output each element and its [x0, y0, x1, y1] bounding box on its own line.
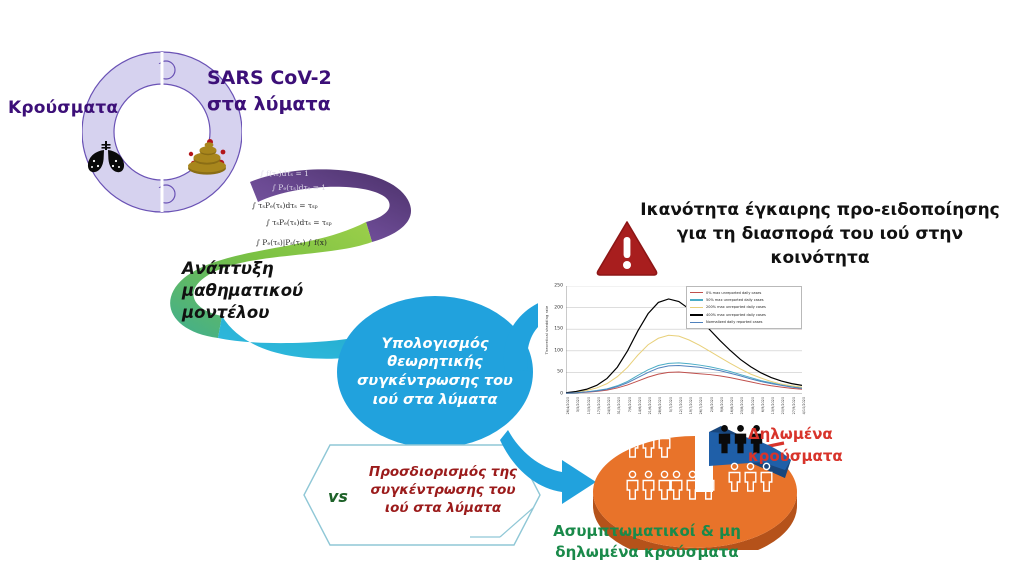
- legend-swatch: [690, 322, 703, 323]
- chart-x-tick: 2/8/2020: [710, 397, 714, 412]
- chart-line: [566, 365, 802, 393]
- legend-swatch: [690, 307, 703, 308]
- chart-x-tick: 28/6/2020: [658, 397, 662, 414]
- legend-item: 200% max unreported daily cases: [690, 304, 798, 311]
- label-model-development: Ανάπτυξη μαθηματικού μοντέλου: [182, 258, 332, 323]
- legend-label: 0% max unreported daily cases: [706, 291, 761, 295]
- chart-x-tick: 17/5/2020: [597, 397, 601, 414]
- label-cases: Κρούσματα: [8, 98, 158, 118]
- label-reported-cases-line1: Δηλωμένα: [748, 424, 878, 446]
- label-unreported-cases-line2: δηλωμένα κρούσματα: [527, 542, 767, 563]
- node-theoretical-concentration-label: Υπολογισμός θεωρητικής συγκέντρωσης του …: [337, 335, 533, 409]
- label-reported-cases: Δηλωμένα κρούσματα: [748, 424, 878, 468]
- chart-x-tick: 14/6/2020: [638, 397, 642, 414]
- chart-x-tick: 26/7/2020: [699, 397, 703, 414]
- label-sars-line2: στα λύματα: [207, 92, 367, 118]
- chart-line: [566, 363, 802, 393]
- chart-y-tick: 200: [554, 305, 563, 310]
- node-measured-concentration: vs Προσδιορισμός της συγκέντρωσης του ιο…: [302, 443, 542, 547]
- legend-item: Normalized daily reported cases: [690, 319, 798, 326]
- legend-item: 50% max unreported daily cases: [690, 296, 798, 303]
- legend-item: 400% max unreported daily cases: [690, 311, 798, 318]
- chart-x-tick: 21/6/2020: [648, 397, 652, 414]
- chart-x-tick: 10/5/2020: [587, 397, 591, 414]
- label-model-development-line1: Ανάπτυξη: [182, 258, 332, 280]
- chart-x-tick: 24/5/2020: [607, 397, 611, 414]
- chart-y-tick: 250: [554, 284, 563, 289]
- people-group-unreported: [669, 470, 716, 500]
- legend-swatch: [690, 314, 703, 315]
- chart-x-tick: 7/6/2020: [628, 397, 632, 412]
- label-sars-wastewater: SARS CoV-2 στα λύματα: [207, 66, 367, 117]
- legend-label: Normalized daily reported cases: [706, 320, 763, 324]
- chart-x-tick: 23/8/2020: [740, 397, 744, 414]
- chart-x-tick: 26/4/2020: [566, 397, 570, 414]
- chart-x-tick: 4/10/2020: [802, 397, 806, 414]
- label-reported-cases-line2: κρούσματα: [748, 446, 878, 468]
- chart-x-tick: 13/9/2020: [771, 397, 775, 414]
- vs-label: vs: [328, 487, 348, 506]
- headline-early-warning: Ικανότητα έγκαιρης προ-ειδοποίησης για τ…: [630, 198, 1010, 270]
- legend-item: 0% max unreported daily cases: [690, 289, 798, 296]
- chart-y-axis-title: Theoretical shedding rate: [545, 275, 549, 385]
- chart-y-tick: 100: [554, 348, 563, 353]
- chart-y-tick: 0: [560, 392, 563, 397]
- chart-legend: 0% max unreported daily cases50% max unr…: [686, 286, 802, 329]
- label-unreported-cases-line1: Ασυμπτωματικοί & μη: [527, 521, 767, 542]
- node-theoretical-concentration: Υπολογισμός θεωρητικής συγκέντρωσης του …: [337, 296, 533, 448]
- people-group-unreported: [625, 428, 672, 458]
- label-model-development-line2: μαθηματικού: [182, 280, 332, 302]
- legend-swatch: [690, 292, 703, 293]
- chart-x-tick: 6/9/2020: [761, 397, 765, 412]
- chart-x-tick: 9/8/2020: [720, 397, 724, 412]
- line-chart: Theoretical shedding rate 05010015020025…: [538, 282, 806, 430]
- chart-x-tick: 20/9/2020: [781, 397, 785, 414]
- chart-x-tick: 30/8/2020: [751, 397, 755, 414]
- chart-line: [566, 335, 802, 392]
- lungs-icon: [86, 141, 126, 173]
- legend-label: 50% max unreported daily cases: [706, 298, 764, 302]
- label-model-development-line3: μοντέλου: [182, 302, 332, 324]
- people-group-unreported: [625, 470, 672, 500]
- node-measured-concentration-label: Προσδιορισμός της συγκέντρωσης του ιού σ…: [358, 463, 528, 517]
- chart-x-tick: 16/8/2020: [730, 397, 734, 414]
- infographic-canvas: Κρούσματα SARS CoV-2 στα λύματα: [0, 0, 1024, 576]
- chart-y-tick: 50: [557, 370, 563, 375]
- chart-y-tick: 150: [554, 327, 563, 332]
- label-sars-line1: SARS CoV-2: [207, 66, 367, 92]
- chart-x-tick: 3/5/2020: [576, 397, 580, 412]
- chart-x-tick: 27/9/2020: [792, 397, 796, 414]
- legend-label: 400% max unreported daily cases: [706, 313, 766, 317]
- chart-x-tick: 12/7/2020: [679, 397, 683, 414]
- chart-x-tick: 5/7/2020: [669, 397, 673, 412]
- chart-x-tick: 19/7/2020: [689, 397, 693, 414]
- legend-swatch: [690, 299, 703, 300]
- chart-x-tick: 31/5/2020: [617, 397, 621, 414]
- legend-label: 200% max unreported daily cases: [706, 305, 766, 309]
- label-unreported-cases: Ασυμπτωματικοί & μη δηλωμένα κρούσματα: [527, 521, 767, 562]
